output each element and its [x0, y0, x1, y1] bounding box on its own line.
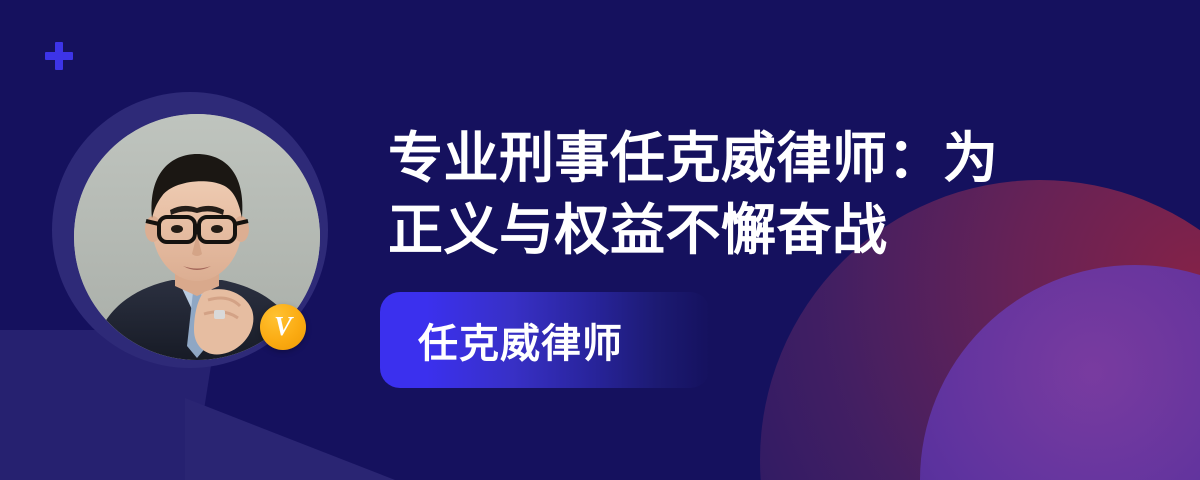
decorative-triangle-left [0, 350, 190, 480]
plus-icon [45, 42, 73, 70]
headline-block: 专业刑事任克威律师：为 正义与权益不懈奋战 [388, 122, 1088, 266]
avatar: V [52, 92, 328, 368]
verified-badge-letter: V [274, 313, 292, 340]
lawyer-name-button[interactable]: 任克威律师 [380, 292, 710, 388]
page-title: 专业刑事任克威律师：为 正义与权益不懈奋战 [388, 122, 1088, 266]
decorative-triangle-bottom [185, 398, 395, 480]
promo-banner: V 专业刑事任克威律师：为 正义与权益不懈奋战 任克威律师 [0, 0, 1200, 480]
verified-check-icon: V [260, 304, 306, 350]
